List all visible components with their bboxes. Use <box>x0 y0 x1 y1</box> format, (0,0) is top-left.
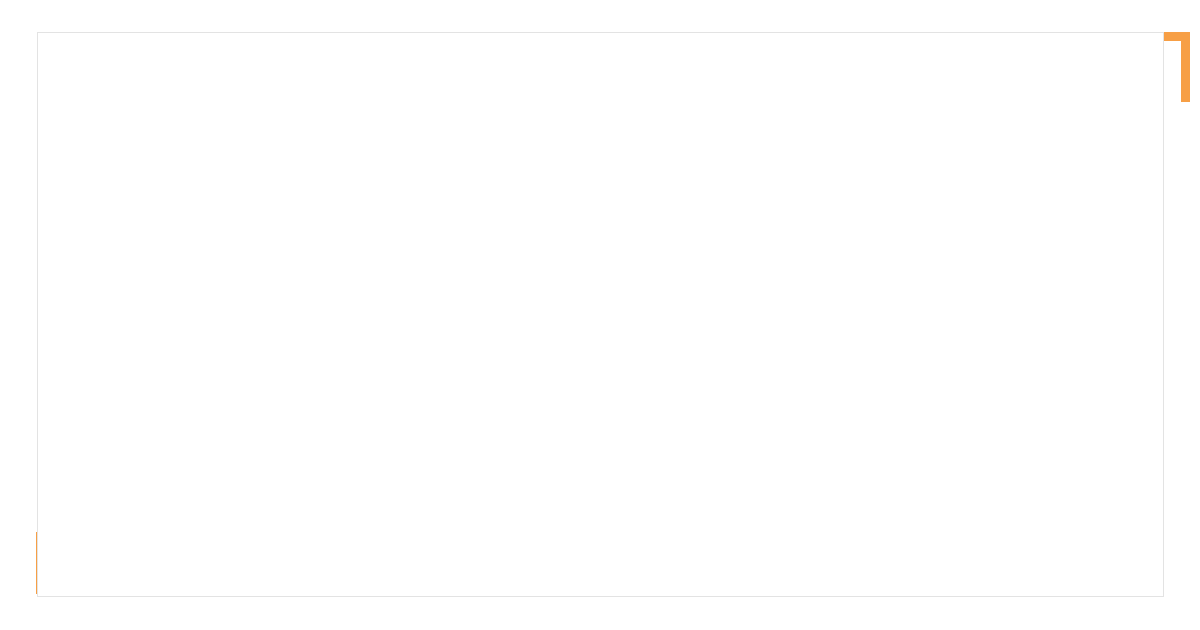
infographic-card <box>37 32 1164 597</box>
